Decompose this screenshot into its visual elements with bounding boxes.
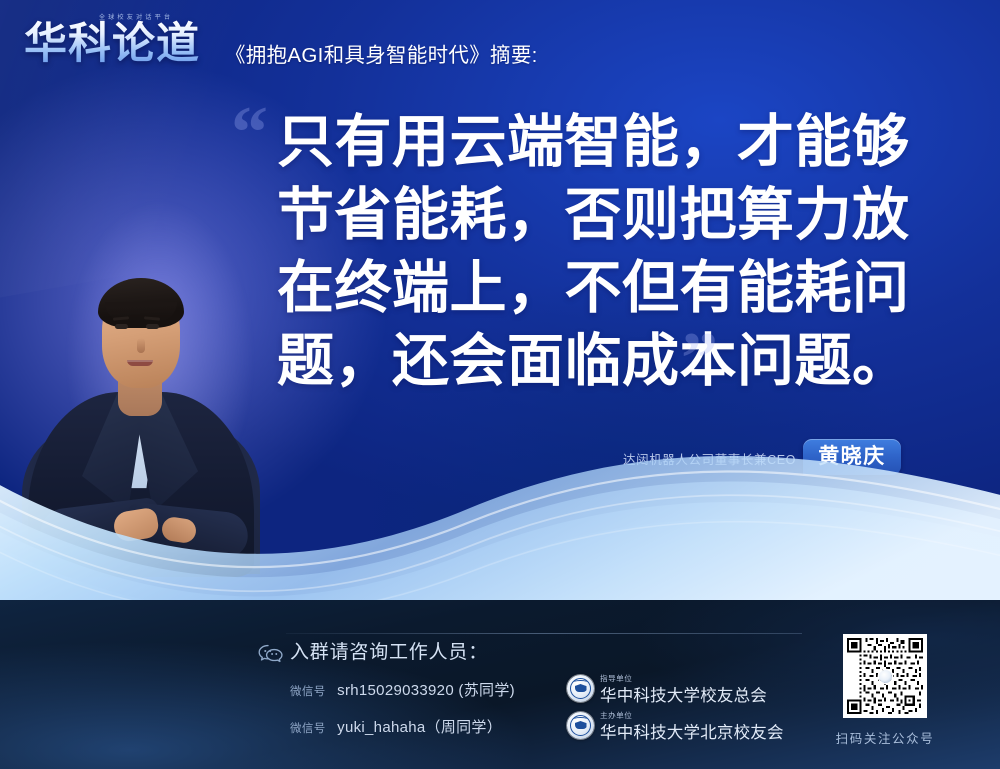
portrait-eye-left bbox=[115, 324, 128, 329]
brand-logo[interactable]: 全球校友对话平台 华科论道 bbox=[24, 10, 220, 72]
university-seal-icon bbox=[567, 675, 594, 702]
quote-text: 只有用云端智能，才能够节省能耗，否则把算力放在终端上，不但有能耗问题，还会面临成… bbox=[277, 106, 937, 398]
header: 全球校友对话平台 华科论道 《拥抱AGI和具身智能时代》摘要: bbox=[0, 0, 1000, 88]
wechat-label: 微信号 bbox=[290, 686, 326, 698]
stage-background: 全球校友对话平台 华科论道 《拥抱AGI和具身智能时代》摘要: “ 只有用云端智… bbox=[0, 0, 1000, 630]
portrait-nose bbox=[137, 338, 145, 353]
portrait-eye-right bbox=[146, 324, 159, 329]
quote-open-mark: “ bbox=[231, 96, 268, 170]
organization-name: 华中科技大学北京校友会 bbox=[600, 719, 784, 743]
quote-close-mark: ” bbox=[681, 322, 718, 396]
wechat-contact-row[interactable]: 微信号 srh15029033920 (苏同学) bbox=[290, 679, 515, 700]
join-instruction-title: 入群请咨询工作人员： bbox=[290, 637, 488, 664]
university-seal-icon bbox=[567, 712, 594, 739]
footer-divider bbox=[286, 633, 802, 634]
portrait-mouth bbox=[127, 360, 153, 366]
portrait-hair bbox=[98, 278, 184, 328]
wechat-icon bbox=[258, 644, 284, 664]
organization-name: 华中科技大学校友总会 bbox=[600, 682, 767, 706]
qr-caption: 扫码关注公众号 bbox=[832, 728, 938, 747]
wechat-label: 微信号 bbox=[290, 723, 326, 735]
poster-root: 全球校友对话平台 华科论道 《拥抱AGI和具身智能时代》摘要: “ 只有用云端智… bbox=[0, 0, 1000, 769]
wechat-id: yuki_hahaha（周同学） bbox=[337, 719, 502, 736]
qr-center-logo bbox=[879, 670, 892, 683]
logo-wordmark: 华科论道 bbox=[24, 19, 220, 69]
wechat-id: srh15029033920 (苏同学) bbox=[337, 682, 515, 699]
wave-band-1 bbox=[0, 456, 1000, 606]
wechat-contact-row[interactable]: 微信号 yuki_hahaha（周同学） bbox=[290, 716, 502, 737]
header-title: 《拥抱AGI和具身智能时代》摘要: bbox=[225, 38, 538, 68]
